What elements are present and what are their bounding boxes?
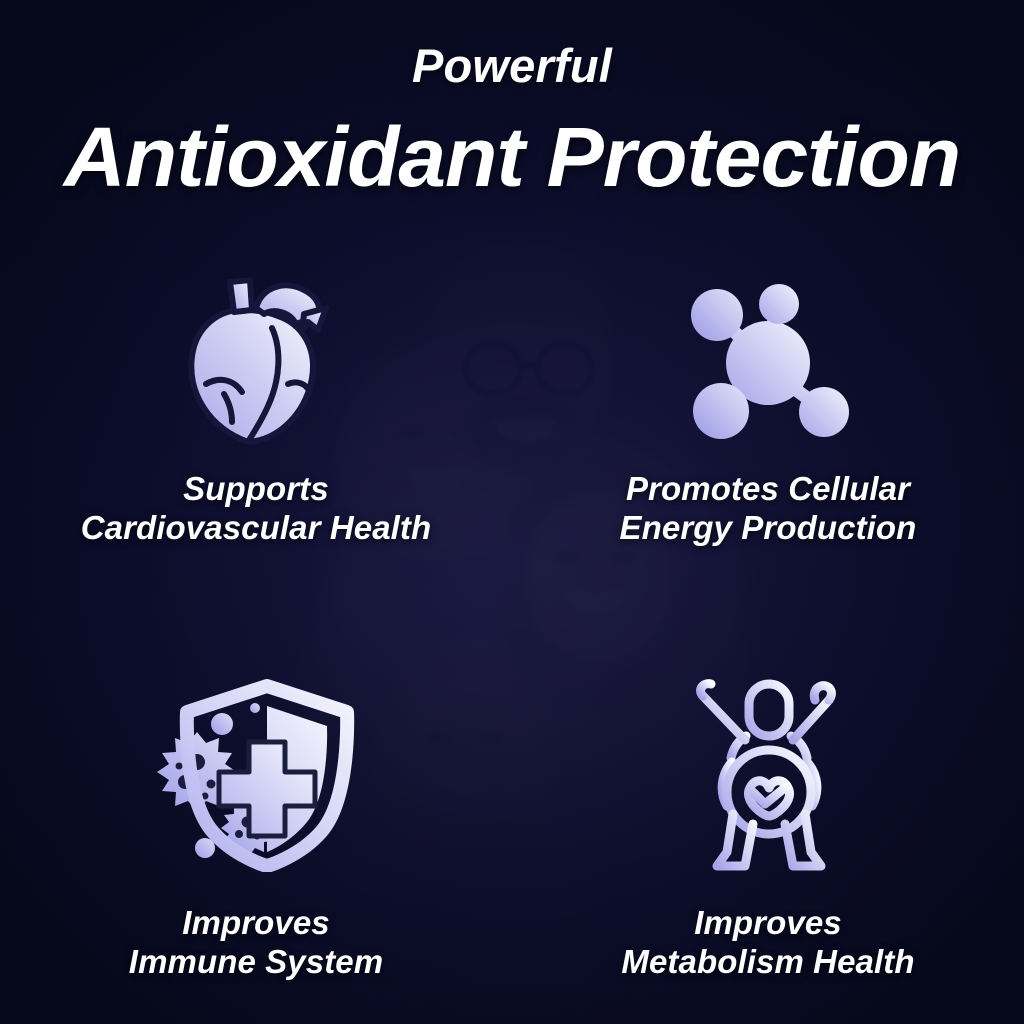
anatomical-heart-icon [176,266,336,456]
benefit-caption: Promotes Cellular Energy Production [620,470,917,548]
benefit-caption: Improves Metabolism Health [621,904,914,982]
benefit-card-cardiovascular: Supports Cardiovascular Health [0,258,512,638]
promo-poster: Powerful Antioxidant Protection [0,0,1024,1024]
molecule-icon [683,266,853,456]
benefit-card-cellular-energy: Promotes Cellular Energy Production [512,258,1024,638]
shield-germs-icon [149,674,364,874]
person-wellness-check-icon [683,674,853,874]
eyebrow-text: Powerful [0,42,1024,89]
benefit-caption: Improves Immune System [129,904,383,982]
benefit-caption: Supports Cardiovascular Health [81,470,432,548]
page-title: Antioxidant Protection [0,115,1024,199]
benefit-card-metabolism: Improves Metabolism Health [512,638,1024,1018]
benefit-card-immune-system: Improves Immune System [0,638,512,1018]
poster-content: Powerful Antioxidant Protection [0,0,1024,1024]
benefits-grid: Supports Cardiovascular Health [0,258,1024,1018]
